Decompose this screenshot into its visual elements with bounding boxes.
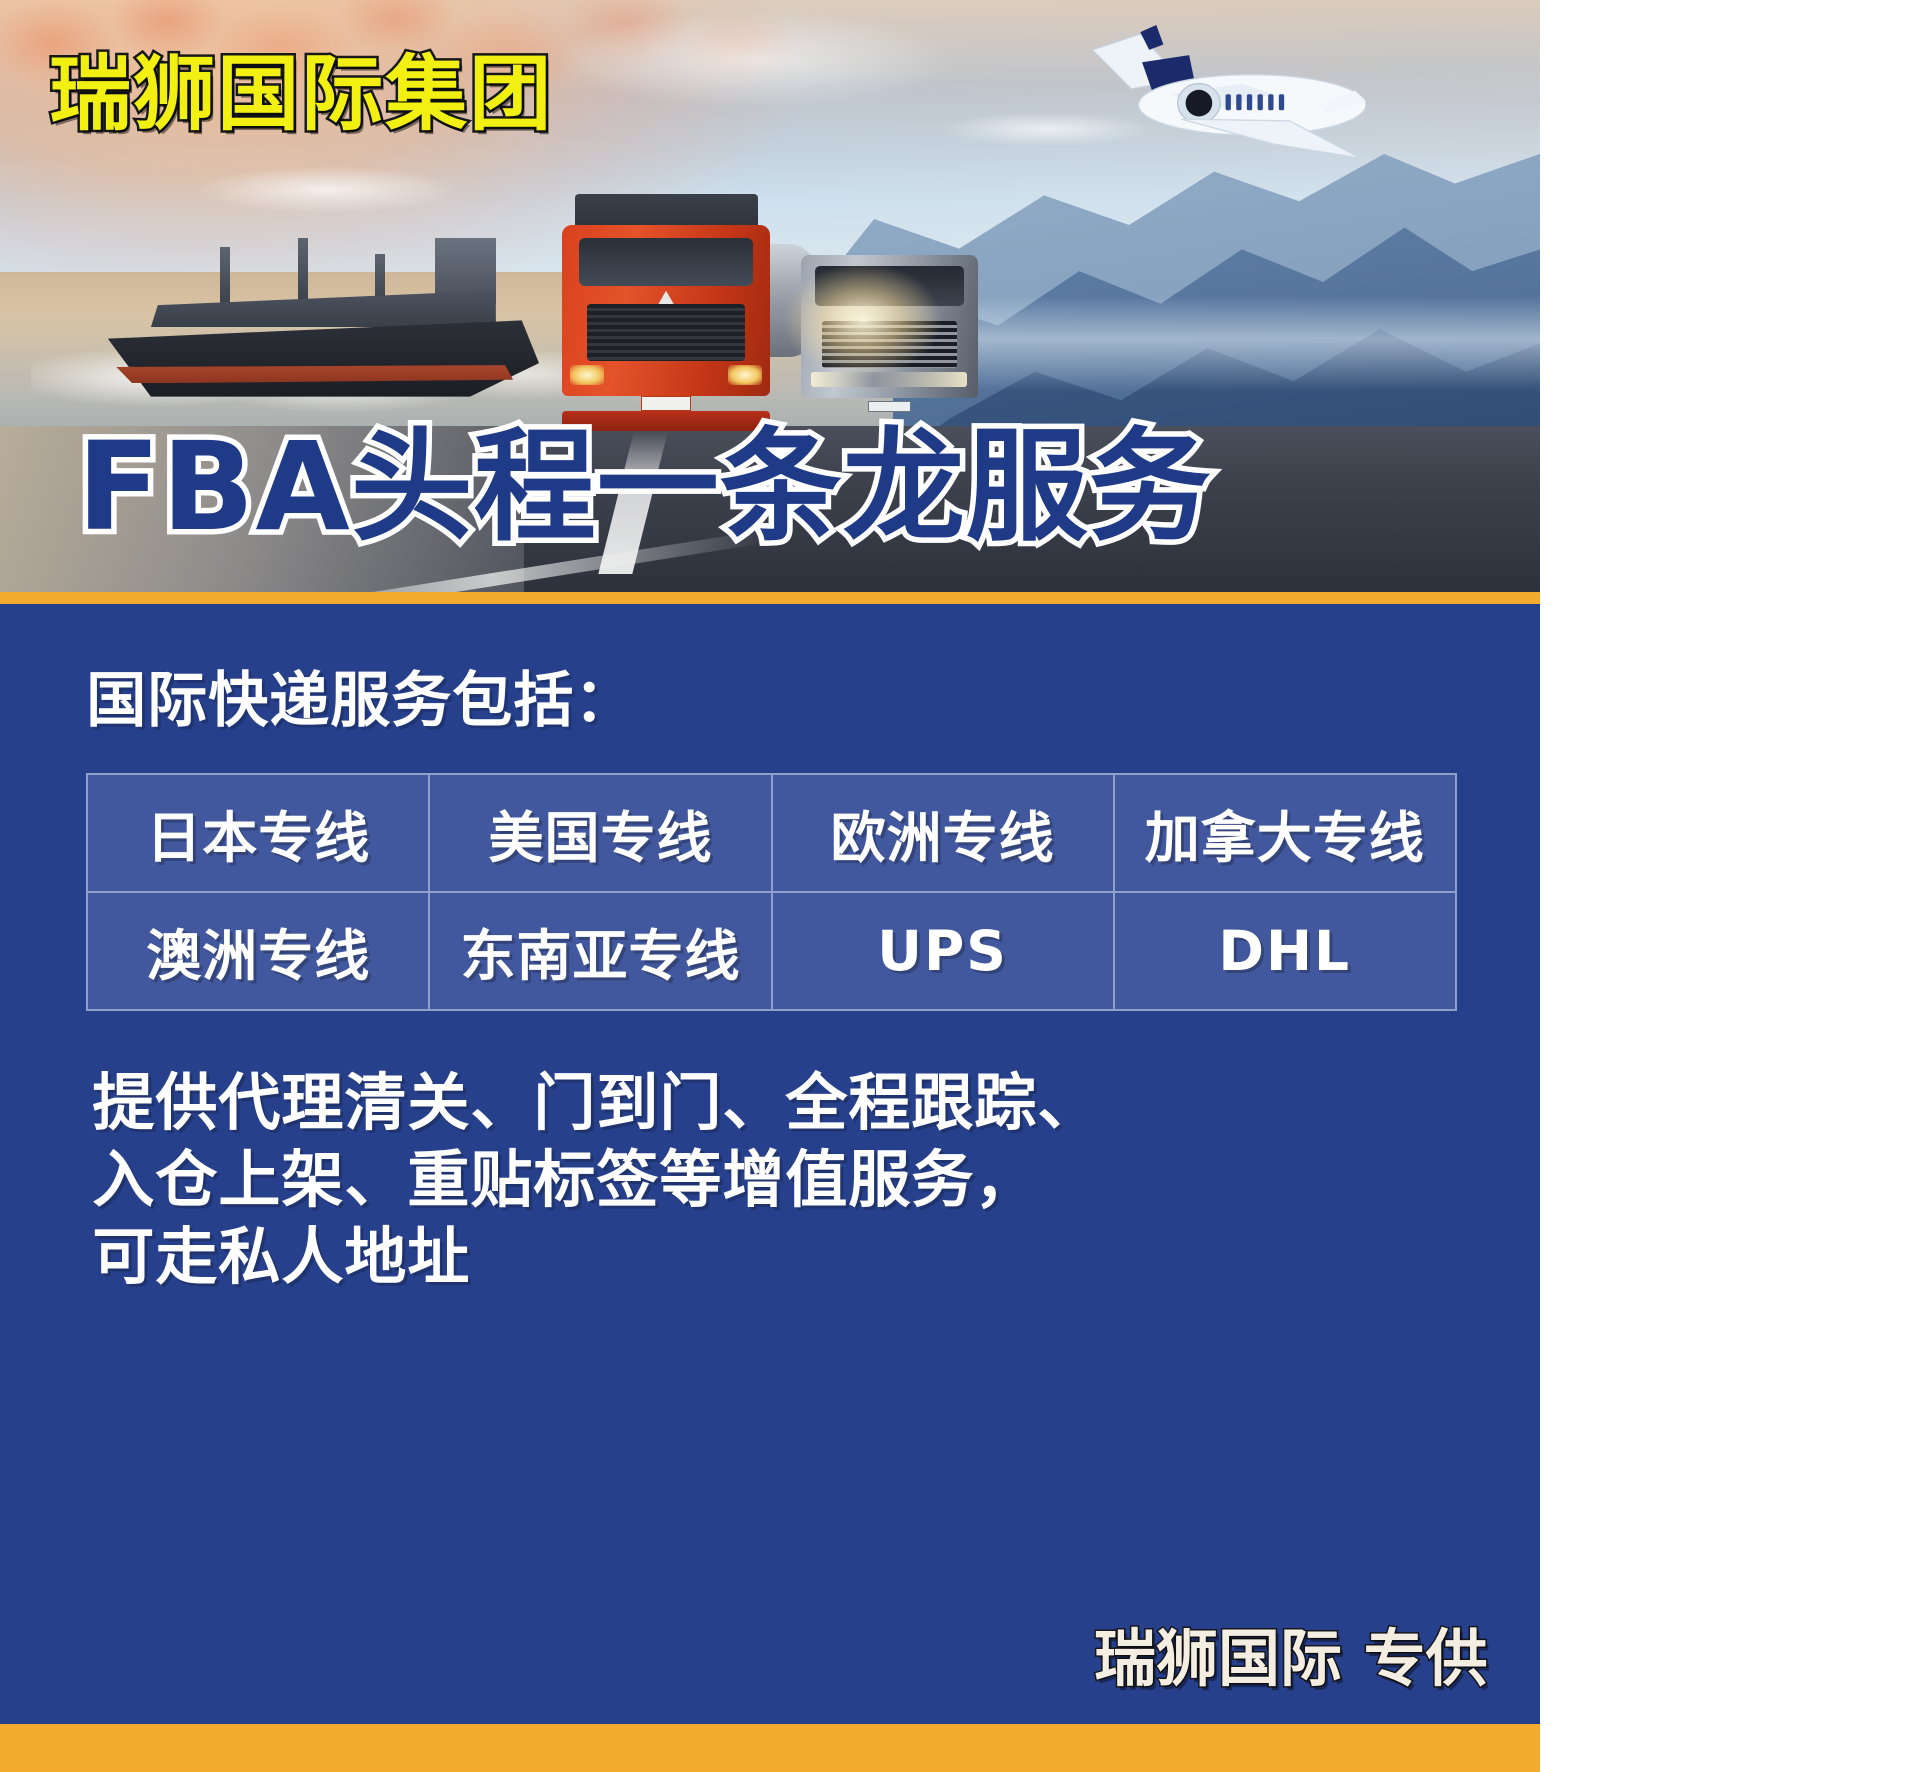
service-cell-canada[interactable]: 加拿大专线: [1114, 774, 1456, 892]
truck-headlight: [728, 365, 761, 385]
body-line-3: 可走私人地址: [92, 1219, 1540, 1296]
cargo-ship-icon: [108, 231, 539, 397]
info-panel: 国际快递服务包括： 日本专线 美国专线 欧洲专线 加拿大专线 澳洲专线 东南亚专…: [0, 604, 1540, 1724]
truck-license-plate: [868, 401, 911, 412]
panel-heading: 国际快递服务包括：: [86, 652, 1540, 739]
service-cell-southeast-asia[interactable]: 东南亚专线: [429, 892, 771, 1010]
truck-license-plate: [641, 396, 691, 411]
truck-grille: [822, 321, 957, 369]
service-lines-table: 日本专线 美国专线 欧洲专线 加拿大专线 澳洲专线 东南亚专线 UPS DHL: [86, 773, 1457, 1011]
ship-crane: [298, 238, 308, 304]
silver-truck-icon: [801, 255, 978, 439]
table-row: 日本专线 美国专线 欧洲专线 加拿大专线: [87, 774, 1456, 892]
body-line-1: 提供代理清关、门到门、全程跟踪、: [92, 1065, 1540, 1142]
service-cell-japan[interactable]: 日本专线: [87, 774, 429, 892]
service-cell-dhl[interactable]: DHL: [1114, 892, 1456, 1010]
hero-banner: 瑞狮国际集团 FBA头程一条龙服务: [0, 0, 1540, 592]
service-cell-australia[interactable]: 澳洲专线: [87, 892, 429, 1010]
service-cell-usa[interactable]: 美国专线: [429, 774, 771, 892]
red-truck-icon: [562, 225, 770, 444]
truck-grille: [587, 304, 745, 361]
brand-logo: 瑞狮国际集团: [49, 27, 553, 146]
truck-windshield: [579, 238, 754, 286]
service-cell-ups[interactable]: UPS: [772, 892, 1114, 1010]
cloud-icon-patch: [524, 12, 986, 107]
value-added-services-text: 提供代理清关、门到门、全程跟踪、 入仓上架、重贴标签等增值服务， 可走私人地址: [92, 1065, 1540, 1296]
ship-deck: [151, 291, 496, 327]
table-row: 澳洲专线 东南亚专线 UPS DHL: [87, 892, 1456, 1010]
truck-windshield: [815, 266, 964, 306]
ship-hull: [108, 320, 539, 396]
divider-bar-top: [0, 592, 1540, 604]
hero-title: FBA头程一条龙服务: [77, 426, 1212, 548]
divider-bar-bottom: [0, 1724, 1540, 1772]
airplane-icon: [978, 9, 1409, 187]
body-line-2: 入仓上架、重贴标签等增值服务，: [92, 1142, 1540, 1219]
poster-container: 瑞狮国际集团 FBA头程一条龙服务 国际快递服务包括： 日本专线 美国专线 欧洲…: [0, 0, 1540, 1772]
panel-footer-brand: 瑞狮国际 专供: [1094, 1608, 1488, 1698]
truck-headlight: [570, 365, 603, 385]
truck-headlight: [811, 372, 967, 387]
service-cell-europe[interactable]: 欧洲专线: [772, 774, 1114, 892]
cloud-icon-wisp-left: [185, 160, 493, 213]
ship-crane: [220, 247, 230, 303]
